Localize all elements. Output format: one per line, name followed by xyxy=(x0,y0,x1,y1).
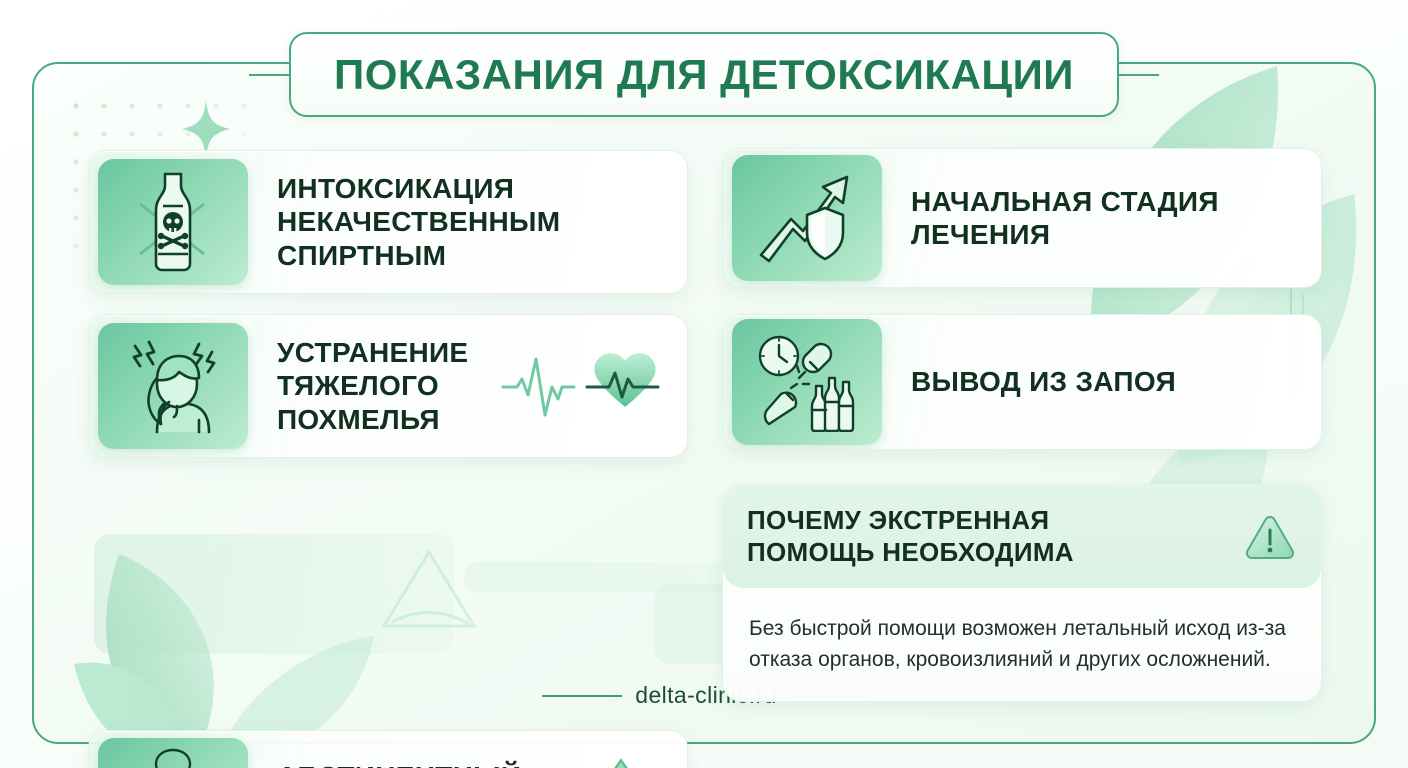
infographic-canvas: delta-clinic.ru ПОКАЗАНИЯ ДЛЯ ДЕТОКСИКАЦ… xyxy=(0,0,1408,768)
page-title: ПОКАЗАНИЯ ДЛЯ ДЕТОКСИКАЦИИ xyxy=(334,51,1074,99)
ecg-heartbeat-heart-art xyxy=(501,347,687,425)
emergency-info-header: ПОЧЕМУ ЭКСТРЕННАЯ ПОМОЩЬ НЕОБХОДИМА xyxy=(723,485,1321,588)
card-withdrawal[interactable]: АБСТИНЕНТНЫЙ СИНДРОМ xyxy=(88,730,688,768)
page-title-box: ПОКАЗАНИЯ ДЛЯ ДЕТОКСИКАЦИИ xyxy=(289,32,1119,117)
card-hangover[interactable]: УСТРАНЕНИЕ ТЯЖЕЛОГО ПОХМЕЛЬЯ xyxy=(88,314,688,458)
headache-person-icon-tile xyxy=(98,323,248,449)
poison-bottle-icon xyxy=(134,170,212,274)
page-title-container: ПОКАЗАНИЯ ДЛЯ ДЕТОКСИКАЦИИ xyxy=(289,32,1119,117)
clock-broken-chain-bottles-icon-tile xyxy=(732,319,882,445)
emergency-info-title: ПОЧЕМУ ЭКСТРЕННАЯ ПОМОЩЬ НЕОБХОДИМА xyxy=(747,505,1243,568)
card-intoxication[interactable]: ИНТОКСИКАЦИЯ НЕКАЧЕСТВЕННЫМ СПИРТНЫМ xyxy=(88,150,688,294)
emergency-info-panel: ПОЧЕМУ ЭКСТРЕННАЯ ПОМОЩЬ НЕОБХОДИМА Без … xyxy=(722,484,1322,702)
card-label: АБСТИНЕНТНЫЙ СИНДРОМ xyxy=(257,760,573,768)
clock-broken-chain-bottles-icon xyxy=(753,332,861,432)
card-label: НАЧАЛЬНАЯ СТАДИЯ ЛЕЧЕНИЯ xyxy=(891,185,1321,251)
nervous-system-icon xyxy=(127,745,219,768)
card-label: ИНТОКСИКАЦИЯ НЕКАЧЕСТВЕННЫМ СПИРТНЫМ xyxy=(257,172,687,271)
card-initial-stage[interactable]: НАЧАЛЬНАЯ СТАДИЯ ЛЕЧЕНИЯ xyxy=(722,148,1322,288)
growth-arrow-shield-icon xyxy=(757,169,857,267)
left-column: ИНТОКСИКАЦИЯ НЕКАЧЕСТВЕННЫМ СПИРТНЫМ xyxy=(88,150,688,768)
headache-person-icon xyxy=(121,336,225,436)
growth-arrow-shield-icon-tile xyxy=(732,155,882,281)
card-label: ВЫВОД ИЗ ЗАПОЯ xyxy=(891,365,1321,398)
water-drop-art xyxy=(573,752,687,768)
poison-bottle-icon-tile xyxy=(98,159,248,285)
ecg-heartbeat-heart-icon xyxy=(501,347,669,425)
title-tick-right xyxy=(1119,74,1159,76)
warning-triangle-icon xyxy=(1243,512,1297,562)
nervous-system-icon-tile xyxy=(98,738,248,768)
title-tick-left xyxy=(249,74,289,76)
emergency-info-body: Без быстрой помощи возможен летальный ис… xyxy=(723,588,1321,674)
card-label: УСТРАНЕНИЕ ТЯЖЕЛОГО ПОХМЕЛЬЯ xyxy=(257,336,501,435)
water-drop-icon xyxy=(573,752,669,768)
card-binge-withdrawal[interactable]: ВЫВОД ИЗ ЗАПОЯ xyxy=(722,314,1322,450)
right-column: НАЧАЛЬНАЯ СТАДИЯ ЛЕЧЕНИЯ xyxy=(722,148,1322,702)
